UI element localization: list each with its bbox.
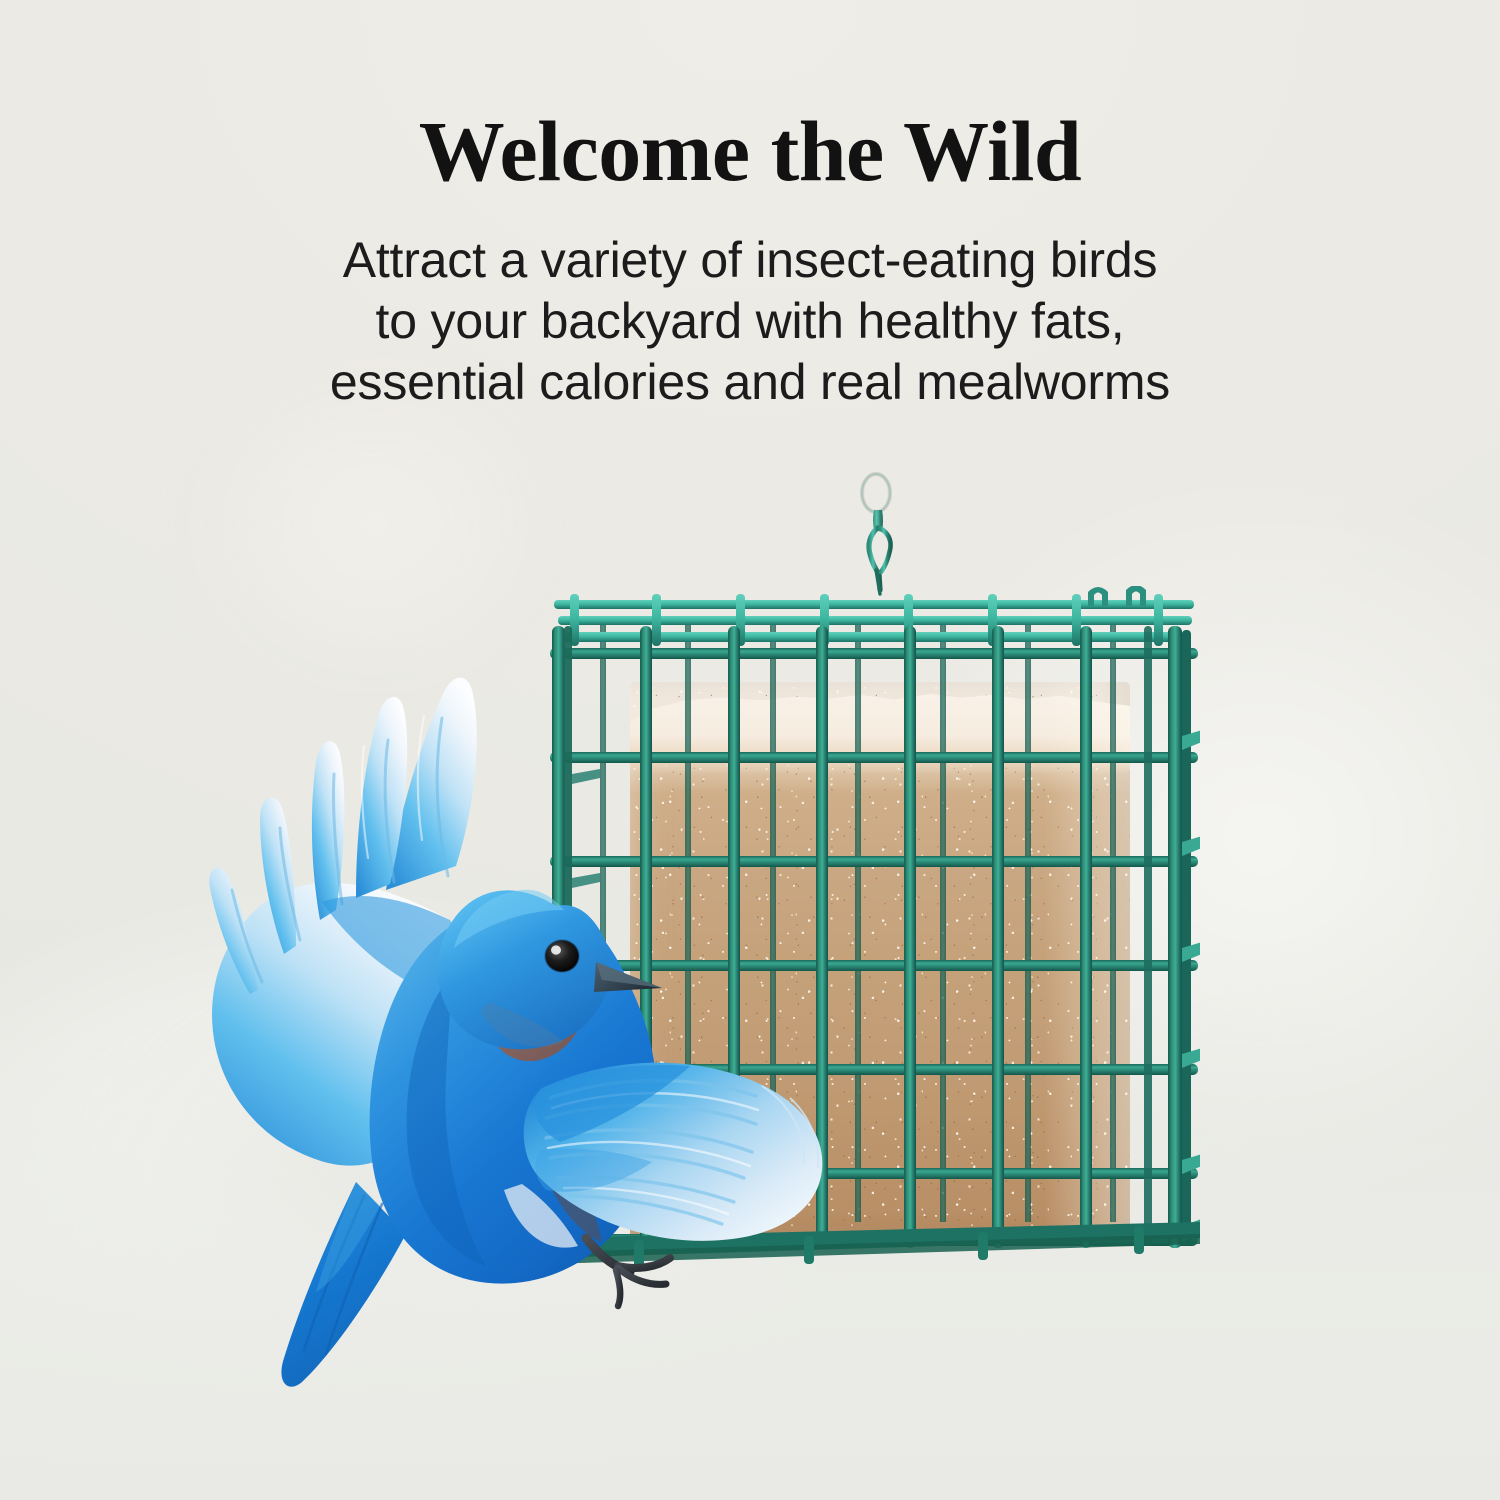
- subtitle-line-1: Attract a variety of insect-eating birds: [0, 230, 1500, 291]
- product-hero-image: Welcome the Wild Attract a variety of in…: [0, 0, 1500, 1500]
- bird-eye: [545, 940, 579, 972]
- subtitle-line-3: essential calories and real mealworms: [0, 352, 1500, 413]
- hanger-icon: [846, 470, 926, 600]
- subtitle-line-2: to your backyard with healthy fats,: [0, 291, 1500, 352]
- page-title: Welcome the Wild: [0, 108, 1500, 194]
- bird-foot: [586, 1238, 670, 1306]
- page-subtitle: Attract a variety of insect-eating birds…: [0, 230, 1500, 413]
- hanging-ring-and-hook: [846, 470, 926, 600]
- bluebird-illustration-icon: [150, 590, 840, 1400]
- bird-beak: [594, 962, 662, 992]
- eastern-bluebird: [150, 590, 840, 1400]
- bird-head: [438, 890, 610, 1050]
- headline-block: Welcome the Wild Attract a variety of in…: [0, 108, 1500, 413]
